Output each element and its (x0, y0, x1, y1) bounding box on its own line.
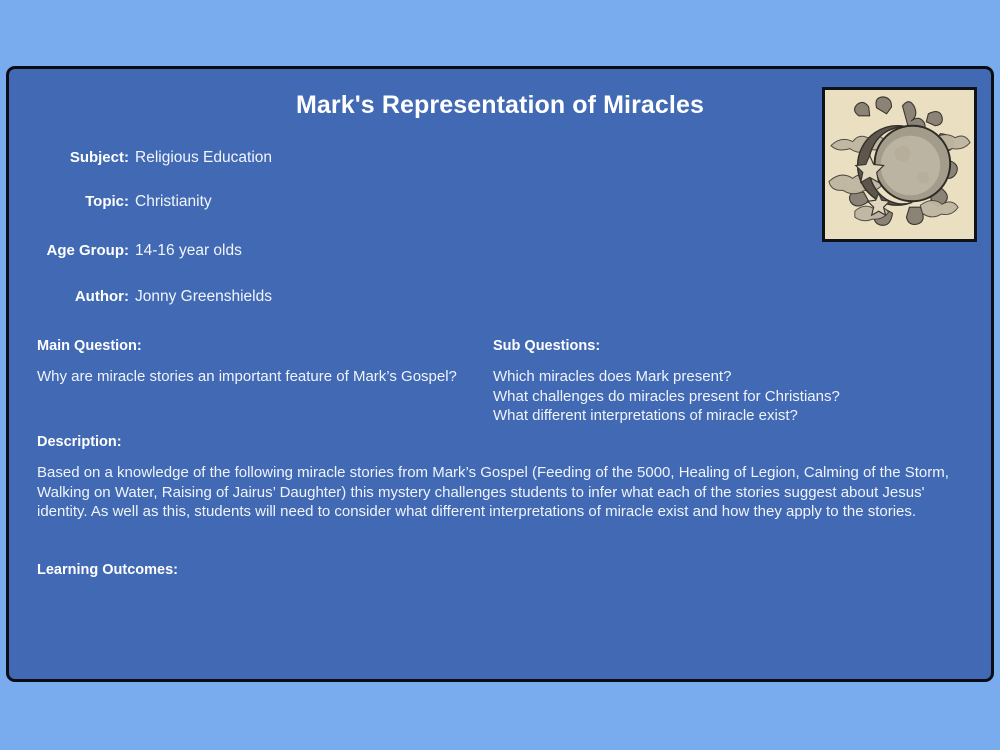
meta-row-author: Author: Jonny Greenshields (9, 288, 769, 310)
meta-label: Topic: (9, 193, 129, 210)
sub-question-item: What challenges do miracles present for … (493, 387, 963, 407)
sun-moon-clouds-illustration-icon (825, 90, 974, 239)
sub-questions-heading: Sub Questions: (493, 338, 600, 354)
meta-value: Religious Education (135, 149, 272, 167)
main-question-heading: Main Question: (37, 338, 142, 354)
sub-questions-list: Which miracles does Mark present? What c… (493, 367, 963, 426)
meta-label: Subject: (9, 149, 129, 166)
meta-label: Age Group: (9, 242, 129, 259)
meta-row-age-group: Age Group: 14-16 year olds (9, 242, 769, 264)
main-question-text: Why are miracle stories an important fea… (37, 367, 457, 387)
meta-label: Author: (9, 288, 129, 305)
begin-button[interactable]: Begin (752, 680, 857, 682)
sub-question-item: Which miracles does Mark present? (493, 367, 963, 387)
meta-value: 14-16 year olds (135, 242, 242, 260)
meta-row-subject: Subject: Religious Education (9, 149, 769, 171)
sub-question-item: What different interpretations of miracl… (493, 406, 963, 426)
description-heading: Description: (37, 434, 122, 450)
learning-outcomes-heading: Learning Outcomes: (37, 562, 178, 578)
back-button[interactable]: Back (161, 680, 266, 682)
meta-row-topic: Topic: Christianity (9, 193, 769, 215)
thumbnail-image (822, 87, 977, 242)
meta-value: Christianity (135, 193, 212, 211)
description-text: Based on a knowledge of the following mi… (37, 463, 967, 522)
mystery-detail-panel: Mark's Representation of Miracles (6, 66, 994, 682)
meta-value: Jonny Greenshields (135, 288, 272, 306)
